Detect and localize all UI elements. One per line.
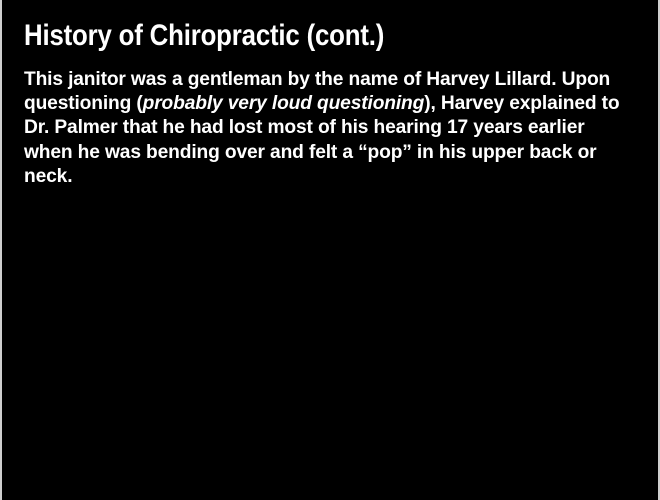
presentation-slide: History of Chiropractic (cont.) This jan… [0, 0, 660, 500]
slide-empty-region [24, 188, 636, 468]
slide-body-text: This janitor was a gentleman by the name… [24, 67, 627, 188]
slide-content-area: History of Chiropractic (cont.) This jan… [2, 0, 658, 500]
slide-title: History of Chiropractic (cont.) [24, 18, 550, 54]
body-emphasis-phrase: probably very loud questioning [143, 92, 425, 114]
